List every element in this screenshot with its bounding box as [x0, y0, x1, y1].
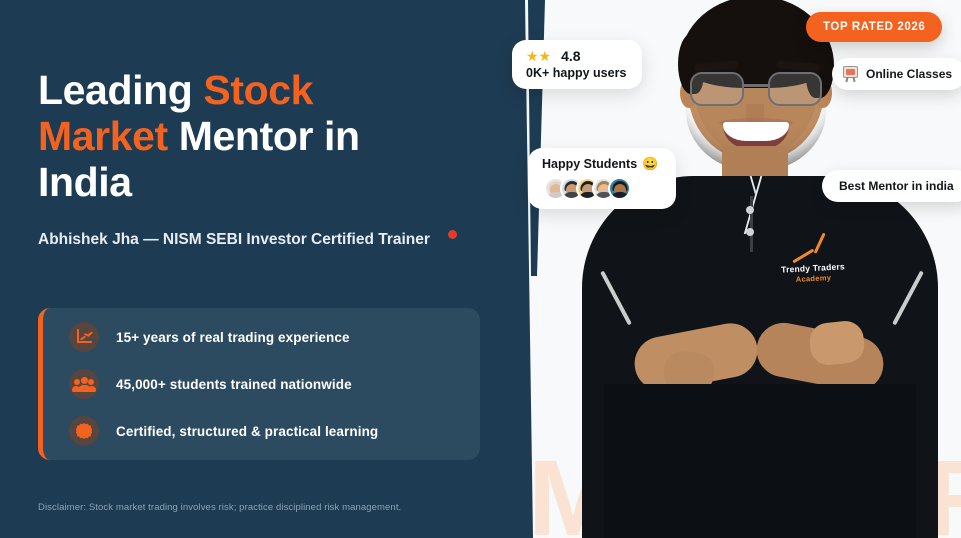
portrait-shirt-button-bottom	[746, 228, 754, 236]
headline-part-1: Leading	[38, 67, 203, 113]
chart-line-icon	[69, 322, 99, 352]
happy-students-title-row: Happy Students 😀	[542, 156, 658, 172]
feature-label-students: 45,000+ students trained nationwide	[116, 377, 352, 392]
eyeglass-lens-right	[768, 72, 822, 106]
headline-part-3: India	[38, 159, 132, 205]
feature-item-experience: 15+ years of real trading experience	[69, 322, 480, 352]
headline-accent-market: Market	[38, 113, 168, 159]
shirt-brand-logo: Trendy Traders Academy	[777, 238, 850, 300]
feature-label-experience: 15+ years of real trading experience	[116, 330, 350, 345]
rating-stars-row: ★★ 4.8	[526, 48, 626, 64]
red-dot-accent	[448, 230, 457, 239]
portrait-shirt-placket	[750, 196, 753, 252]
student-avatar-group	[542, 177, 658, 200]
feature-item-certified: Certified, structured & practical learni…	[69, 416, 480, 446]
headline-part-2: Mentor in	[168, 113, 360, 159]
eyeglass-bridge	[744, 84, 768, 87]
online-classes-badge: Online Classes	[832, 58, 961, 90]
eyeglass-lens-left	[690, 72, 744, 106]
presentation-board-icon	[842, 66, 859, 82]
users-icon	[69, 369, 99, 399]
certificate-rosette-icon	[69, 416, 99, 446]
feature-list-card: 15+ years of real trading experience 45,…	[38, 308, 480, 460]
portrait-eyeglasses	[690, 72, 822, 106]
rating-caption: 0K+ happy users	[526, 66, 626, 80]
feature-label-certified: Certified, structured & practical learni…	[116, 424, 378, 439]
happy-students-label: Happy Students	[542, 157, 637, 171]
headline-accent-stock: Stock	[203, 67, 313, 113]
brand-tick-icon	[789, 239, 836, 263]
portrait-lower-torso	[604, 384, 916, 538]
portrait-shirt-button-top	[746, 206, 754, 214]
star-icon: ★★	[526, 49, 551, 63]
page-subtitle: Abhishek Jha — NISM SEBI Investor Certif…	[38, 228, 446, 252]
page-title: Leading Stock Market Mentor in India	[38, 68, 468, 206]
top-rated-badge: TOP RATED 2026	[806, 12, 942, 42]
online-classes-label: Online Classes	[866, 67, 952, 81]
feature-item-students: 45,000+ students trained nationwide	[69, 369, 480, 399]
avatar	[608, 177, 631, 200]
rating-value: 4.8	[561, 48, 580, 64]
disclaimer-text: Disclaimer: Stock market trading involve…	[38, 502, 468, 513]
happy-students-badge: Happy Students 😀	[528, 148, 676, 209]
hero-section: MENTOR	[0, 0, 961, 538]
smiley-face-icon: 😀	[642, 156, 658, 172]
rating-badge: ★★ 4.8 0K+ happy users	[512, 40, 642, 89]
best-mentor-badge: Best Mentor in india	[822, 170, 961, 202]
